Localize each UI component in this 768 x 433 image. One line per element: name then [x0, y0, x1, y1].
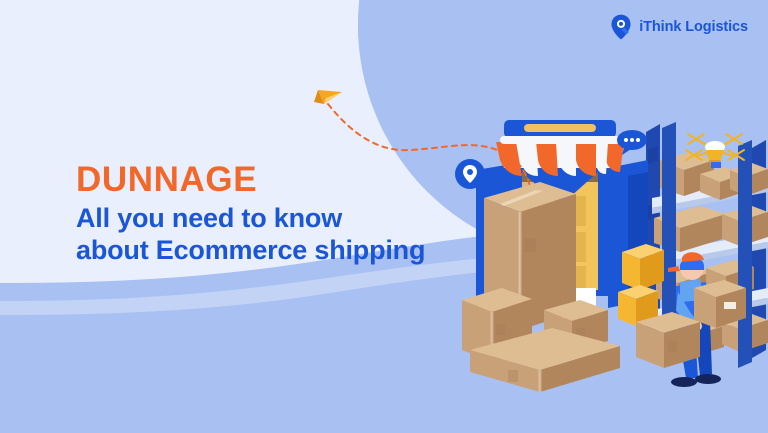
brand-logo-text: iThink Logistics [639, 20, 748, 35]
brand-logo[interactable]: iThink Logistics [610, 14, 748, 40]
headline-line-2: about Ecommerce shipping [76, 235, 496, 267]
location-pin-logo-icon [610, 14, 632, 40]
headline-kicker: DUNNAGE [76, 162, 496, 199]
promo-banner: iThink Logistics [0, 0, 768, 433]
chat-bubble-icon [616, 128, 650, 156]
delivery-drone-icon [684, 128, 746, 176]
headline-line-1: All you need to know [76, 203, 496, 235]
headline-block: DUNNAGE All you need to know about Ecomm… [76, 162, 496, 266]
paper-plane-icon [314, 90, 342, 104]
